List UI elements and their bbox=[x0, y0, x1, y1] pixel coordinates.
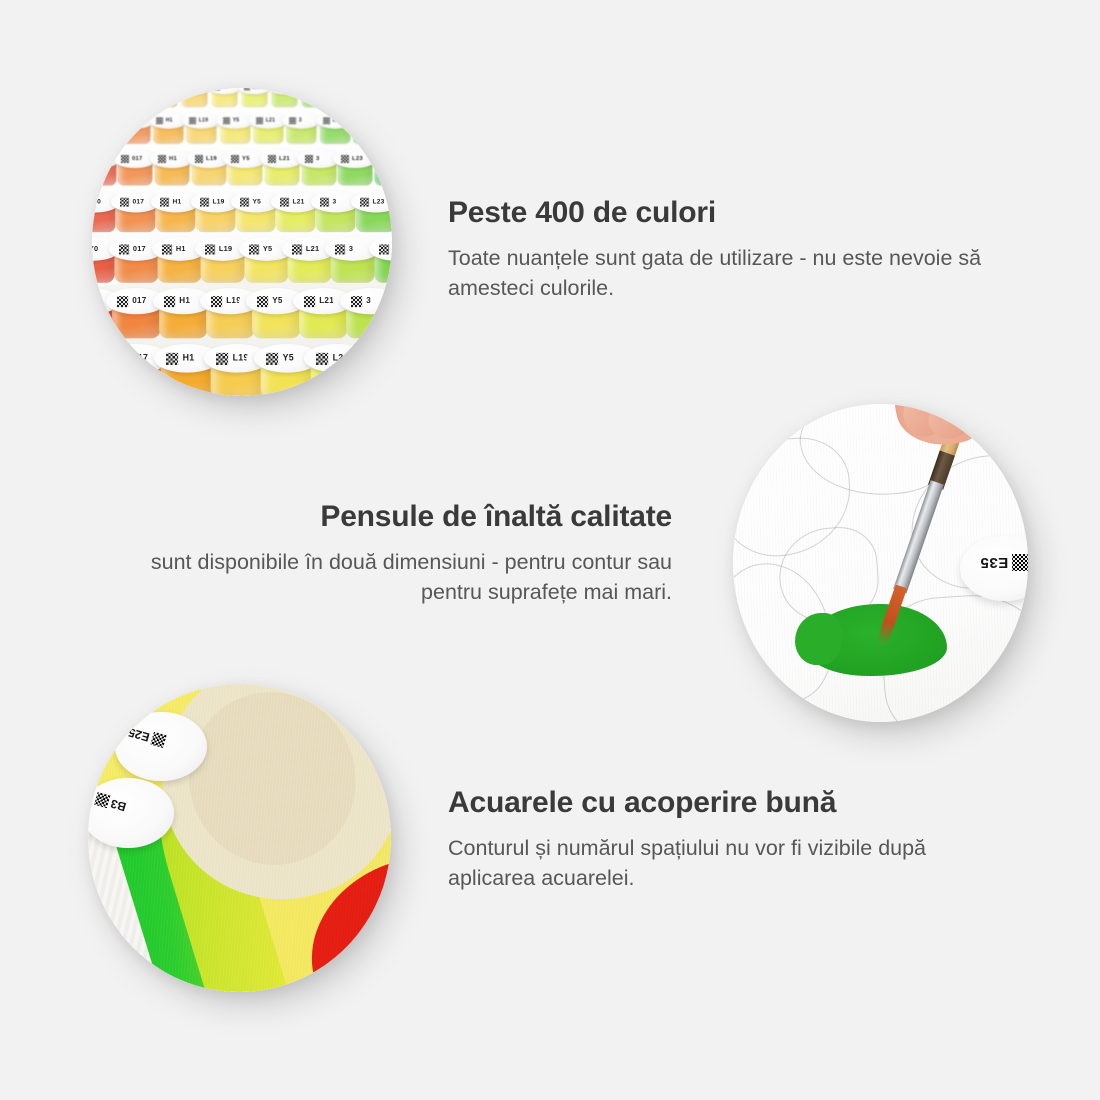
pot-code-text: Y5 bbox=[242, 155, 250, 162]
qr-code-icon bbox=[92, 155, 93, 163]
qr-code-icon bbox=[195, 155, 203, 163]
pot-code-text: E35 bbox=[980, 554, 1008, 571]
pot-code-text: 3 bbox=[383, 352, 388, 362]
pot-code-text: 3 bbox=[299, 117, 302, 123]
qr-code-icon bbox=[335, 244, 345, 254]
qr-code-icon bbox=[351, 296, 362, 307]
qr-code-icon bbox=[356, 117, 363, 124]
paint-pot: Y0 bbox=[92, 88, 121, 108]
pot-code-text: Y0 bbox=[92, 352, 94, 362]
paint-pot: L23 bbox=[369, 237, 392, 285]
qr-code-icon bbox=[156, 117, 163, 124]
qr-code-icon bbox=[116, 352, 128, 364]
pot-code-text: L21 bbox=[292, 197, 304, 204]
pot-code-text: Y0 bbox=[96, 155, 104, 162]
pot-code-text: 017 bbox=[132, 197, 144, 204]
photo-brush-canvas-inner: E35 bbox=[733, 404, 1028, 722]
pot-code-text: H1 bbox=[179, 296, 190, 305]
paint-pot: H1 bbox=[148, 88, 181, 108]
pot-code-text: F12 bbox=[389, 155, 392, 162]
pot-code-text: L19 bbox=[219, 244, 232, 252]
pot-code-text: Y5 bbox=[283, 352, 294, 362]
feature-desc-brushes: sunt disponibile în două dimensiuni - pe… bbox=[130, 547, 672, 608]
paint-pot: 017 bbox=[118, 88, 151, 108]
qr-code-icon bbox=[123, 117, 130, 124]
pot-code-text: 017 bbox=[132, 155, 142, 162]
canvas-scene: E35 bbox=[733, 404, 1028, 722]
qr-code-icon bbox=[205, 244, 215, 254]
pot-code-text: Y5 bbox=[232, 117, 239, 123]
pot-code-text: L21 bbox=[279, 155, 290, 162]
qr-code-icon bbox=[379, 244, 389, 254]
pot-lid: F12 bbox=[391, 191, 392, 212]
qr-code-icon bbox=[360, 197, 369, 206]
pot-code-text: L19 bbox=[212, 197, 224, 204]
paint-pot: L23 bbox=[386, 288, 392, 340]
qr-code-icon bbox=[256, 117, 263, 124]
qr-code-icon bbox=[214, 88, 220, 90]
pot-lid: L23 bbox=[369, 237, 392, 261]
paint-pot: L19 bbox=[178, 88, 211, 108]
pot-code-text: F12 bbox=[342, 88, 350, 89]
paint-pot: L23 bbox=[298, 88, 331, 108]
feature-title-brushes: Pensule de înaltă calitate bbox=[130, 500, 672, 535]
qr-code-icon bbox=[211, 296, 222, 307]
photo-paint-pots: Y0017H1L19Y5L213L23F12Y0017H1L19Y5L213L2… bbox=[92, 88, 392, 396]
pot-code-text: F12 bbox=[366, 117, 375, 123]
paint-pot: F12 bbox=[370, 149, 392, 187]
pot-code-text: H1 bbox=[172, 197, 181, 204]
qr-code-icon bbox=[216, 352, 228, 364]
qr-code-icon bbox=[334, 88, 340, 90]
pot-code-text: Y0 bbox=[99, 117, 106, 123]
pot-code-text: 3 bbox=[282, 88, 285, 89]
qr-code-icon bbox=[117, 296, 128, 307]
paint-pot-e35: E35 bbox=[960, 536, 1028, 601]
pot-code-text: 017 bbox=[132, 88, 140, 89]
pot-code-text: L21 bbox=[306, 244, 319, 252]
paint-pot: F12 bbox=[328, 88, 361, 108]
pot-lid: F12 bbox=[349, 112, 388, 129]
pot-code-text: H1 bbox=[183, 352, 195, 362]
paint-pot: F12 bbox=[349, 112, 388, 145]
qr-code-icon bbox=[119, 244, 129, 254]
feature-title-colors: Peste 400 de culori bbox=[448, 196, 988, 231]
qr-code-icon bbox=[1012, 554, 1028, 571]
pot-code-text: 3 bbox=[316, 155, 319, 162]
qr-code-icon bbox=[320, 197, 329, 206]
pot-code-text: L21 bbox=[252, 88, 260, 89]
qr-code-icon bbox=[257, 296, 268, 307]
pot-code-text: H1 bbox=[176, 244, 186, 252]
pot-code-text: L21 bbox=[266, 117, 275, 123]
pot-code-text: 3 bbox=[366, 296, 371, 305]
pot-code-text: L23 bbox=[332, 117, 341, 123]
pot-code-text: 3 bbox=[349, 244, 353, 252]
pot-label: E35 bbox=[980, 554, 1028, 571]
qr-code-icon bbox=[341, 155, 349, 163]
pot-code-text: L23 bbox=[352, 155, 363, 162]
qr-code-icon bbox=[94, 793, 110, 809]
pots-scene: Y0017H1L19Y5L213L23F12Y0017H1L19Y5L213L2… bbox=[92, 88, 392, 396]
paint-pot: 3 bbox=[354, 344, 392, 396]
paint-pot: L23 bbox=[351, 191, 392, 234]
feature-desc-colors: Toate nuanțele sunt gata de utilizare - … bbox=[448, 243, 988, 304]
qr-code-icon bbox=[304, 88, 310, 90]
feature-text-coverage: Acuarele cu acoperire bună Conturul și n… bbox=[448, 786, 988, 894]
qr-code-icon bbox=[240, 197, 249, 206]
pot-lid: F12 bbox=[370, 149, 392, 168]
qr-code-icon bbox=[94, 88, 100, 90]
paint-pot: Y5 bbox=[208, 88, 241, 108]
feature-text-brushes: Pensule de înaltă calitate sunt disponib… bbox=[130, 500, 672, 608]
pot-code-text: Y0 bbox=[92, 244, 99, 252]
qr-code-icon bbox=[266, 352, 278, 364]
pot-code-text: Y5 bbox=[262, 244, 272, 252]
paint-pot-e25: E25 bbox=[115, 712, 207, 782]
photo-brush-canvas: E35 bbox=[733, 404, 1028, 722]
pot-code-text: 017 bbox=[132, 117, 141, 123]
qr-code-icon bbox=[223, 117, 230, 124]
qr-code-icon bbox=[249, 244, 259, 254]
feature-text-colors: Peste 400 de culori Toate nuanțele sunt … bbox=[448, 196, 988, 304]
pot-code-text: Y0 bbox=[92, 197, 101, 204]
pot-code-text: Y5 bbox=[273, 296, 283, 305]
qr-code-icon bbox=[120, 197, 129, 206]
art-scene: E25 B3 bbox=[88, 684, 391, 992]
photo-paint-pots-inner: Y0017H1L19Y5L213L23F12Y0017H1L19Y5L213L2… bbox=[92, 88, 392, 396]
qr-code-icon bbox=[289, 117, 296, 124]
finger bbox=[924, 404, 972, 443]
qr-code-icon bbox=[274, 88, 280, 90]
qr-code-icon bbox=[231, 155, 239, 163]
qr-code-icon bbox=[154, 88, 160, 90]
pot-code-text: 3 bbox=[332, 197, 336, 204]
qr-code-icon bbox=[162, 244, 172, 254]
feature-desc-coverage: Conturul și numărul spațiului nu vor fi … bbox=[448, 833, 988, 894]
pot-code-text: Y5 bbox=[222, 88, 228, 89]
qr-code-icon bbox=[305, 155, 313, 163]
pot-lid bbox=[88, 778, 174, 848]
pot-code-text: L23 bbox=[372, 197, 384, 204]
qr-code-icon bbox=[164, 296, 175, 307]
qr-code-icon bbox=[378, 155, 386, 163]
qr-code-icon bbox=[160, 197, 169, 206]
pot-code-text: 017 bbox=[132, 244, 145, 252]
pot-code-text: L19 bbox=[206, 155, 217, 162]
qr-code-icon bbox=[92, 117, 96, 124]
qr-code-icon bbox=[366, 352, 378, 364]
photo-painted-canvas: E25 B3 bbox=[88, 684, 391, 992]
pot-code-text: Y5 bbox=[252, 197, 261, 204]
pot-code-text: L19 bbox=[192, 88, 200, 89]
pot-code-text: L21 bbox=[319, 296, 334, 305]
pot-code-text: Y0 bbox=[102, 88, 108, 89]
pot-code-text: L19 bbox=[199, 117, 208, 123]
qr-code-icon bbox=[121, 155, 129, 163]
qr-code-icon bbox=[200, 197, 209, 206]
qr-code-icon bbox=[316, 352, 328, 364]
qr-code-icon bbox=[184, 88, 190, 90]
qr-code-icon bbox=[292, 244, 302, 254]
qr-code-icon bbox=[124, 88, 130, 90]
qr-code-icon bbox=[268, 155, 276, 163]
feature-title-coverage: Acuarele cu acoperire bună bbox=[448, 786, 988, 821]
paint-pot: F12 bbox=[391, 191, 392, 234]
qr-code-icon bbox=[158, 155, 166, 163]
pot-code-text: 017 bbox=[133, 296, 147, 305]
pot-code-text: L23 bbox=[312, 88, 320, 89]
pot-code-text: Y0 bbox=[92, 296, 96, 305]
qr-code-icon bbox=[244, 88, 250, 90]
qr-code-icon bbox=[304, 296, 315, 307]
pot-code-text: H1 bbox=[166, 117, 173, 123]
product-feature-page: Y0017H1L19Y5L213L23F12Y0017H1L19Y5L213L2… bbox=[0, 0, 1100, 1100]
qr-code-icon bbox=[166, 352, 178, 364]
qr-code-icon bbox=[323, 117, 330, 124]
pot-code-text: H1 bbox=[169, 155, 177, 162]
qr-code-icon bbox=[280, 197, 289, 206]
qr-code-icon bbox=[189, 117, 196, 124]
photo-painted-canvas-inner: E25 B3 bbox=[88, 684, 391, 992]
paint-pot: L21 bbox=[238, 88, 271, 108]
paint-pot: 3 bbox=[268, 88, 301, 108]
pot-code-text: H1 bbox=[162, 88, 168, 89]
paint-pot-b3: B3 bbox=[88, 778, 174, 848]
